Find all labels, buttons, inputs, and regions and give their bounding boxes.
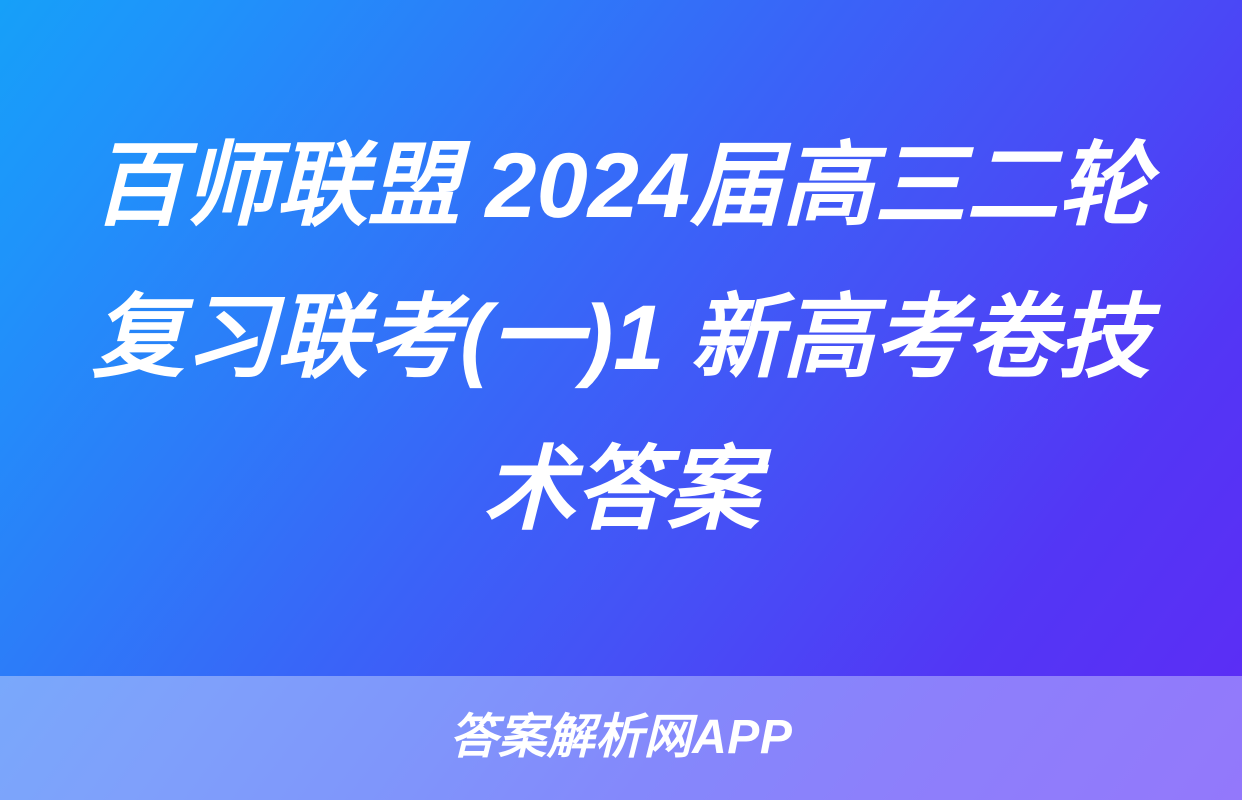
hero-banner: 百师联盟 2024届高三二轮复习联考(一)1 新高考卷技术答案 [0, 0, 1242, 676]
poster-container: 百师联盟 2024届高三二轮复习联考(一)1 新高考卷技术答案 答案解析网APP [0, 0, 1242, 800]
page-title: 百师联盟 2024届高三二轮复习联考(一)1 新高考卷技术答案 [81, 110, 1161, 566]
brand-name: 答案解析网APP [450, 714, 793, 762]
footer-brand-bar: 答案解析网APP [0, 676, 1242, 800]
